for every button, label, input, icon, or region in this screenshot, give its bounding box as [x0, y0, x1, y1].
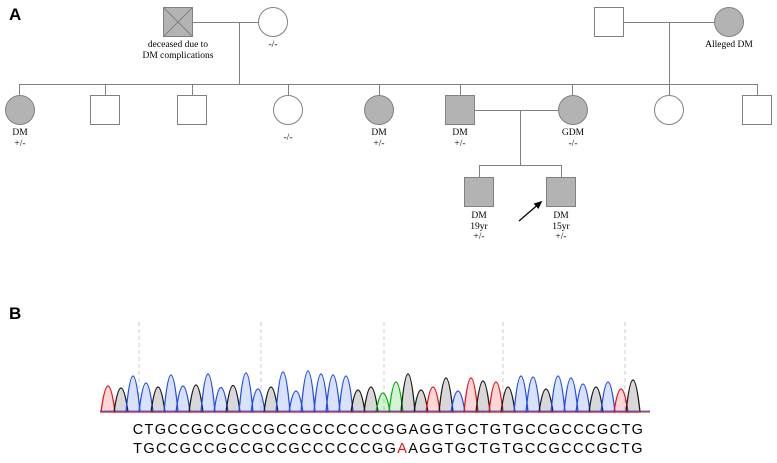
gen1r-mother-label: Alleged DM	[686, 40, 772, 51]
sequence-bottom-before: TGCCGCCGCCGCCGCCCCCCGG	[133, 441, 397, 457]
gen2-couple-descent-line	[520, 110, 521, 165]
gen2r-sibship-line	[572, 84, 757, 85]
gen2-drop-5	[379, 84, 380, 95]
deceased-cross-icon	[162, 6, 194, 38]
gen1-mother-label: -/-	[248, 40, 298, 51]
pedigree-chart: deceased due to DM complications -/- DM …	[0, 0, 777, 270]
gen2-child-5-affected[interactable]	[364, 95, 394, 125]
gen2-drop-3	[192, 84, 193, 95]
gen1-mother-unaffected[interactable]	[258, 7, 288, 37]
sequence-top-row: CTGCCGCCGCCGCCGCCCCCCGGAGGTGCTGTGCCGCCCG…	[0, 422, 777, 438]
gen2-child-6-affected-father[interactable]	[445, 95, 475, 125]
gen3-sibship-line	[479, 165, 562, 166]
gen2-child-6-label: DM +/-	[435, 128, 485, 149]
proband-arrow-icon	[516, 198, 550, 224]
gen2-child-4-label: -/-	[263, 133, 313, 144]
gen2-drop-4	[288, 84, 289, 95]
gen3-child-2-proband-affected[interactable]	[546, 177, 576, 207]
gen2-child-7-label: GDM -/-	[548, 128, 598, 149]
sequence-bottom-mutation-base: A	[397, 441, 408, 457]
gen2-child-1-affected[interactable]	[5, 95, 35, 125]
gen2-drop-6	[460, 84, 461, 95]
gen3-child-1-affected[interactable]	[464, 177, 494, 207]
gen1r-descent-line	[669, 22, 670, 84]
gen3-drop-1	[479, 165, 480, 177]
gen2-child-4-unaffected[interactable]	[273, 95, 303, 125]
gen2-child-1-label: DM +/-	[0, 128, 45, 149]
gen3-drop-2	[561, 165, 562, 177]
chromatogram-peaks	[101, 371, 640, 412]
gen2-child-2-unaffected[interactable]	[90, 95, 120, 125]
gen2-child-5-label: DM +/-	[354, 128, 404, 149]
gen3-child-1-label: DM 19yr +/-	[454, 211, 504, 243]
gen2-child-8-unaffected[interactable]	[654, 95, 684, 125]
sequence-bottom-row: TGCCGCCGCCGCCGCCCCCCGGAAGGTGCTGTGCCGCCCG…	[0, 441, 777, 457]
gen2r-drop-2	[669, 84, 670, 95]
gen2-child-7-gdm[interactable]	[558, 95, 588, 125]
gen2-drop-1	[19, 84, 20, 95]
panel-b-letter: B	[9, 305, 21, 322]
gen2-child-3-unaffected[interactable]	[177, 95, 207, 125]
gen2r-drop-3	[757, 84, 758, 95]
gen1-father-caption: deceased due to DM complications	[128, 40, 228, 62]
gen1-descent-line	[239, 22, 240, 84]
gen1r-mother-alleged-dm[interactable]	[714, 7, 744, 37]
gen2-child-9-unaffected[interactable]	[742, 95, 772, 125]
gen2-couple-mating-line	[475, 110, 559, 111]
gen1-mating-line	[193, 22, 259, 23]
sequence-bottom-after: AGGTGCTGTGCCGCCCGCTG	[408, 441, 644, 457]
gen2r-drop-1	[572, 84, 573, 95]
gen1r-father-unaffected[interactable]	[594, 7, 624, 37]
chromatogram-trace	[100, 322, 650, 417]
gen2-drop-2	[105, 84, 106, 95]
chromatogram-svg	[100, 322, 650, 417]
